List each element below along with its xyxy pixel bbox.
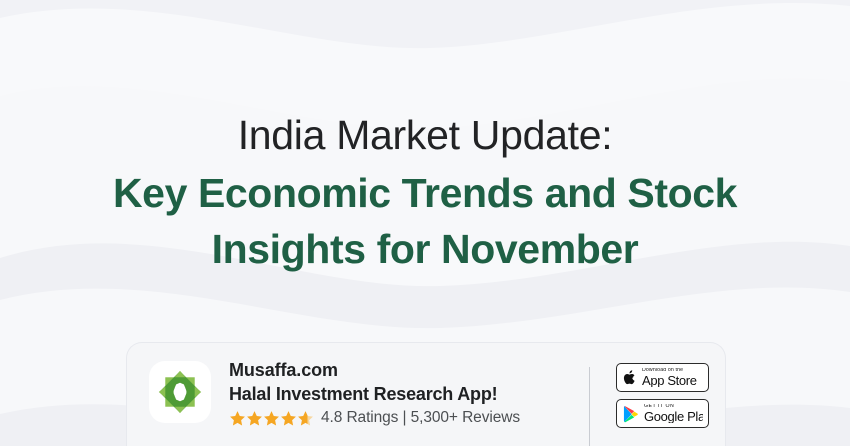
google-play-badge[interactable]: GET IT ON Google Play bbox=[616, 399, 709, 428]
promo-banner: India Market Update: Key Economic Trends… bbox=[0, 0, 850, 446]
app-brand-name: Musaffa.com bbox=[229, 359, 589, 382]
star-icon-5-partial bbox=[297, 410, 314, 427]
rating-row: 4.8 Ratings | 5,300+ Reviews bbox=[229, 409, 589, 427]
store-badges: Download on the App Store GET IT ON Goog… bbox=[590, 357, 709, 428]
app-store-labels: Download on the App Store bbox=[642, 368, 697, 387]
headline-block: India Market Update: Key Economic Trends… bbox=[0, 108, 850, 278]
google-play-labels: GET IT ON Google Play bbox=[644, 404, 703, 423]
app-store-bottom-label: App Store bbox=[642, 374, 697, 387]
musaffa-star-logo-icon bbox=[157, 369, 203, 415]
star-icon-1 bbox=[229, 410, 246, 427]
app-tagline: Halal Investment Research App! bbox=[229, 383, 589, 406]
app-store-badge[interactable]: Download on the App Store bbox=[616, 363, 709, 392]
star-icon-4 bbox=[280, 410, 297, 427]
apple-logo-icon bbox=[623, 369, 637, 386]
app-promo-card: Musaffa.com Halal Investment Research Ap… bbox=[126, 342, 726, 446]
star-icon-3 bbox=[263, 410, 280, 427]
app-logo-tile bbox=[149, 361, 211, 423]
star-icon-2 bbox=[246, 410, 263, 427]
rating-text: 4.8 Ratings | 5,300+ Reviews bbox=[321, 409, 520, 427]
google-play-icon bbox=[623, 405, 639, 423]
headline-line-2: Key Economic Trends and Stock Insights f… bbox=[60, 166, 790, 278]
app-info: Musaffa.com Halal Investment Research Ap… bbox=[211, 357, 589, 427]
headline-line-1: India Market Update: bbox=[60, 108, 790, 162]
star-rating bbox=[229, 410, 314, 427]
google-play-bottom-label: Google Play bbox=[644, 410, 703, 423]
